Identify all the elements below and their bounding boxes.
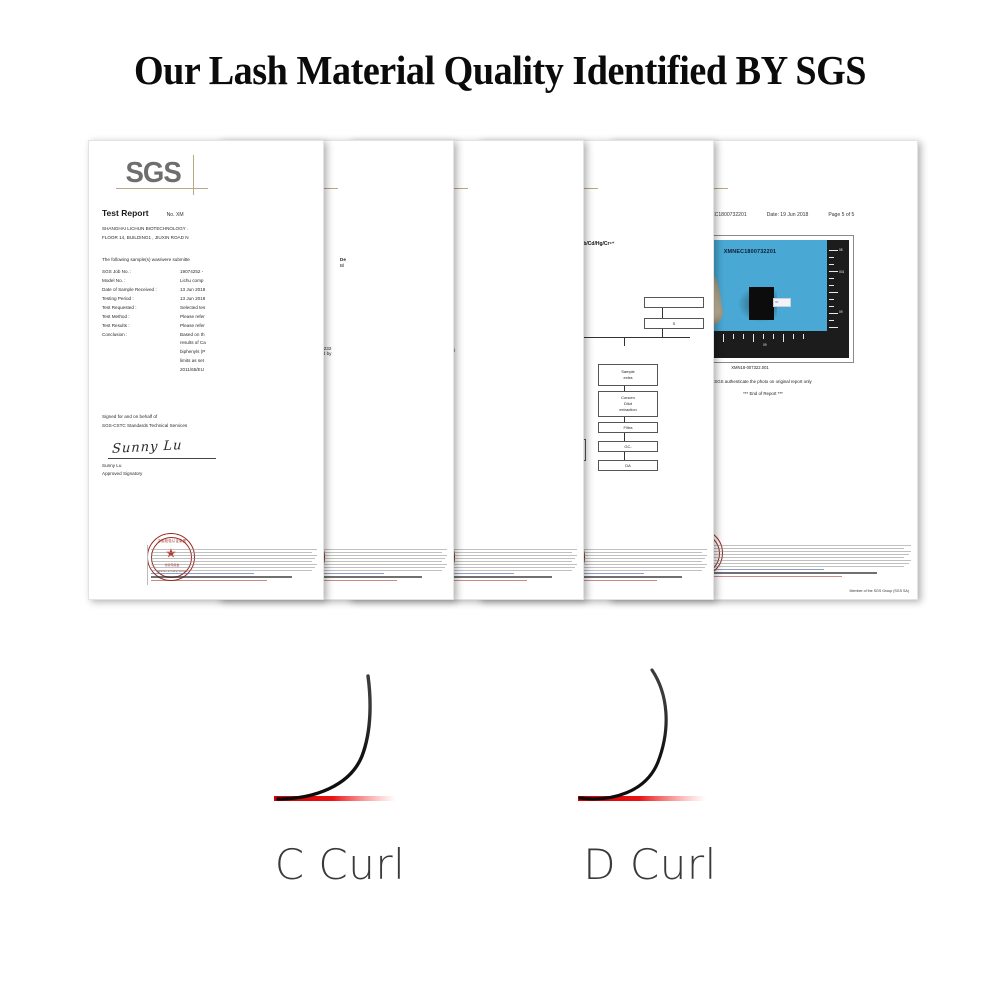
signature-script: Sunny Lu bbox=[112, 438, 183, 457]
sgs-logo: SGS bbox=[116, 155, 208, 195]
flow-node: DA bbox=[598, 460, 658, 471]
arrow-icon: ⇦ bbox=[775, 299, 778, 304]
company-address: SHANGHAI LICHUN BIOTECHNOLOGY . FLOOR 14… bbox=[102, 225, 314, 243]
report-page-number: Page 5 of 5 bbox=[828, 212, 854, 218]
field-row: limits as set bbox=[102, 357, 314, 366]
flow-node: Filtra bbox=[598, 422, 658, 433]
signatory-role: Approved Signatory bbox=[102, 470, 314, 479]
sgs-logo-vrule bbox=[193, 155, 194, 195]
field-row: Model No. :Lichu comp bbox=[102, 277, 314, 286]
photo-tag: ⇦ bbox=[773, 298, 791, 307]
flow-node: S bbox=[644, 318, 704, 329]
c-curl-illustration bbox=[190, 650, 490, 860]
flow-node: Concen Dilut extraction bbox=[598, 391, 658, 417]
field-row: Date of Sample Received :13 Jun 2018 bbox=[102, 286, 314, 295]
flow-node bbox=[644, 297, 704, 308]
flow-node: Sample extra bbox=[598, 364, 658, 386]
field-row: Conclusion :Based on th bbox=[102, 331, 314, 340]
d-curl-label: D Curl bbox=[500, 840, 800, 889]
signatory-name: Sunny Lu bbox=[102, 462, 314, 471]
field-row: 2011/65/EU bbox=[102, 366, 314, 375]
report-header: Test Report No. XM bbox=[102, 208, 314, 218]
page-title: Our Lash Material Quality Identified BY … bbox=[35, 46, 965, 94]
sgs-logo-hrule bbox=[116, 188, 208, 189]
d-curl-unit: D Curl bbox=[500, 650, 800, 950]
field-row: Test Method :Please refer bbox=[102, 313, 314, 322]
signature-lead-2: SGS-CSTC Standards Technical Services bbox=[102, 422, 314, 431]
c-curl-label: C Curl bbox=[190, 840, 490, 889]
page-root: Our Lash Material Quality Identified BY … bbox=[0, 0, 1000, 1000]
report-fields: SGS Job No. :19074252 - Model No. :Lichu… bbox=[98, 268, 314, 375]
sgs-member-line: Member of the SGS Group (SGS SA) bbox=[849, 589, 909, 593]
sgs-report-fan: SGS Test Report No. XM SHANGHAI LICHUN B… bbox=[0, 140, 1000, 620]
sgs-logo-text: SGS bbox=[125, 157, 180, 190]
curl-comparison: C Curl D Cu bbox=[0, 650, 1000, 950]
d-curl-illustration bbox=[500, 650, 800, 860]
intro-text: The following sample(s) was/were submitt… bbox=[102, 256, 314, 265]
lash-strip bbox=[749, 287, 774, 320]
footer-divider bbox=[147, 545, 148, 585]
field-row: results of Ca bbox=[102, 339, 314, 348]
signature-lead-1: Signed for and on behalf of bbox=[102, 413, 314, 422]
field-row: biphenyls (P bbox=[102, 348, 314, 357]
footer-fineprint bbox=[681, 545, 911, 579]
signature-block: Signed for and on behalf of SGS-CSTC Sta… bbox=[102, 413, 314, 479]
footer-fineprint bbox=[151, 549, 317, 583]
field-row: Testing Period :13 Jun 2018 bbox=[102, 295, 314, 304]
field-row: Test Requested :Selected tes bbox=[102, 304, 314, 313]
field-row: SGS Job No. :19074252 - bbox=[102, 268, 314, 277]
signature-rule bbox=[108, 458, 216, 459]
report-date: Date: 19 Jun 2018 bbox=[767, 212, 809, 218]
report-page-1[interactable]: SGS Test Report No. XM SHANGHAI LICHUN B… bbox=[88, 140, 324, 600]
flowchart-heading: Pb/Cd/Hg/Cr⁶⁺ bbox=[580, 241, 704, 247]
c-curl-unit: C Curl bbox=[190, 650, 490, 950]
report-title: Test Report bbox=[102, 208, 149, 218]
flow-node: GC- bbox=[598, 441, 658, 452]
field-row: Test Results :Please refer bbox=[102, 322, 314, 331]
report-number: No. XM bbox=[167, 212, 184, 218]
stamp-arc-text: 中国检验认证集团 bbox=[148, 538, 196, 543]
